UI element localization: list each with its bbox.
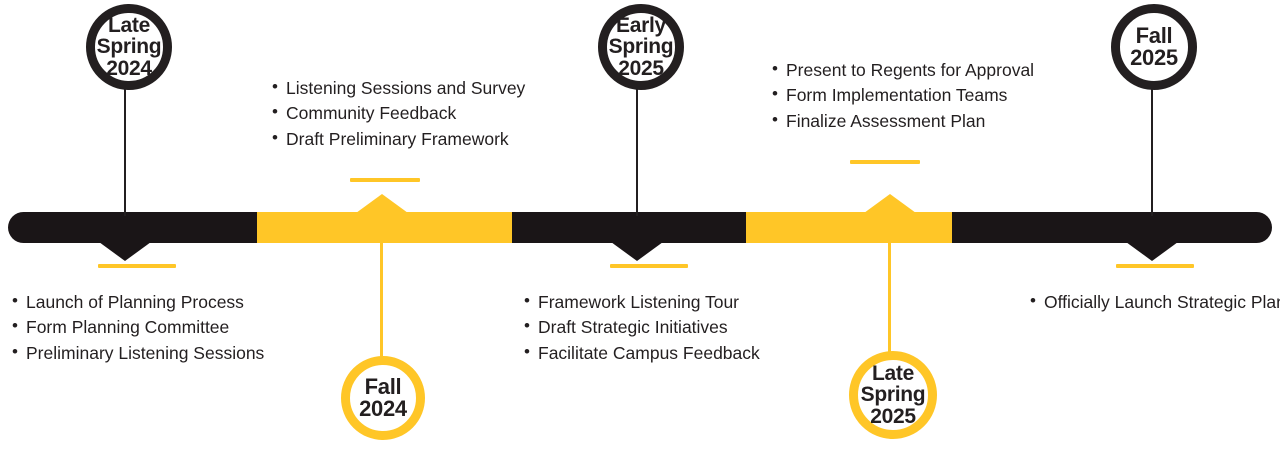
marker-arrow-late-spring-2024 [99, 242, 151, 261]
bullet-list-listening-sessions: Listening Sessions and SurveyCommunity F… [272, 76, 525, 152]
bullet-item: Facilitate Campus Feedback [524, 341, 760, 366]
accent-rule-launch-of-planning [98, 264, 176, 268]
bullet-item: Finalize Assessment Plan [772, 109, 1034, 134]
milestone-node-early-spring-2025[interactable]: Early Spring 2025 [598, 4, 684, 90]
bullet-list-launch-of-planning: Launch of Planning ProcessForm Planning … [12, 290, 264, 366]
bullet-item: Present to Regents for Approval [772, 58, 1034, 83]
bullet-list-present-to-regents: Present to Regents for ApprovalForm Impl… [772, 58, 1034, 134]
connector-early-spring-2025 [636, 86, 638, 216]
bullet-item: Draft Strategic Initiatives [524, 315, 760, 340]
marker-arrow-late-spring-2025 [864, 194, 916, 213]
bullet-item: Listening Sessions and Survey [272, 76, 525, 101]
milestone-label-fall-2025: Fall 2025 [1130, 25, 1178, 70]
accent-rule-listening-sessions [350, 178, 420, 182]
milestone-label-fall-2024: Fall 2024 [359, 376, 407, 421]
timeline-bar [8, 212, 1272, 243]
connector-fall-2024 [380, 241, 383, 360]
milestone-label-late-spring-2025: Late Spring 2025 [861, 363, 926, 427]
marker-arrow-fall-2025 [1126, 242, 1178, 261]
milestone-label-early-spring-2025: Early Spring 2025 [609, 15, 674, 79]
bullet-item: Draft Preliminary Framework [272, 127, 525, 152]
bullet-item: Preliminary Listening Sessions [12, 341, 264, 366]
accent-rule-framework-listening-tour [610, 264, 688, 268]
timeline-diagram: Late Spring 2024Fall 2024Early Spring 20… [0, 0, 1280, 455]
marker-arrow-fall-2024 [356, 194, 408, 213]
bullet-list-framework-listening-tour: Framework Listening TourDraft Strategic … [524, 290, 760, 366]
timeline-segment-1 [8, 212, 257, 243]
milestone-detail-listening-sessions: Listening Sessions and SurveyCommunity F… [272, 76, 525, 182]
milestone-node-fall-2025[interactable]: Fall 2025 [1111, 4, 1197, 90]
milestone-node-late-spring-2024[interactable]: Late Spring 2024 [86, 4, 172, 90]
timeline-segment-4 [746, 212, 952, 243]
bullet-item: Community Feedback [272, 101, 525, 126]
connector-late-spring-2024 [124, 86, 126, 216]
milestone-detail-framework-listening-tour: Framework Listening TourDraft Strategic … [524, 264, 760, 366]
accent-rule-present-to-regents [850, 160, 920, 164]
milestone-detail-launch-of-planning: Launch of Planning ProcessForm Planning … [12, 264, 264, 366]
connector-late-spring-2025 [888, 241, 891, 355]
accent-rule-officially-launch [1116, 264, 1194, 268]
bullet-item: Form Planning Committee [12, 315, 264, 340]
milestone-node-late-spring-2025[interactable]: Late Spring 2025 [849, 351, 937, 439]
bullet-item: Form Implementation Teams [772, 83, 1034, 108]
milestone-node-fall-2024[interactable]: Fall 2024 [341, 356, 425, 440]
milestone-detail-officially-launch: Officially Launch Strategic Plan [1030, 264, 1280, 315]
marker-arrow-early-spring-2025 [611, 242, 663, 261]
timeline-segment-2 [257, 212, 512, 243]
bullet-item: Officially Launch Strategic Plan [1030, 290, 1280, 315]
timeline-segment-5 [952, 212, 1272, 243]
bullet-list-officially-launch: Officially Launch Strategic Plan [1030, 290, 1280, 315]
milestone-detail-present-to-regents: Present to Regents for ApprovalForm Impl… [772, 58, 1034, 164]
connector-fall-2025 [1151, 86, 1153, 216]
timeline-segment-3 [512, 212, 746, 243]
bullet-item: Framework Listening Tour [524, 290, 760, 315]
milestone-label-late-spring-2024: Late Spring 2024 [97, 15, 162, 79]
bullet-item: Launch of Planning Process [12, 290, 264, 315]
